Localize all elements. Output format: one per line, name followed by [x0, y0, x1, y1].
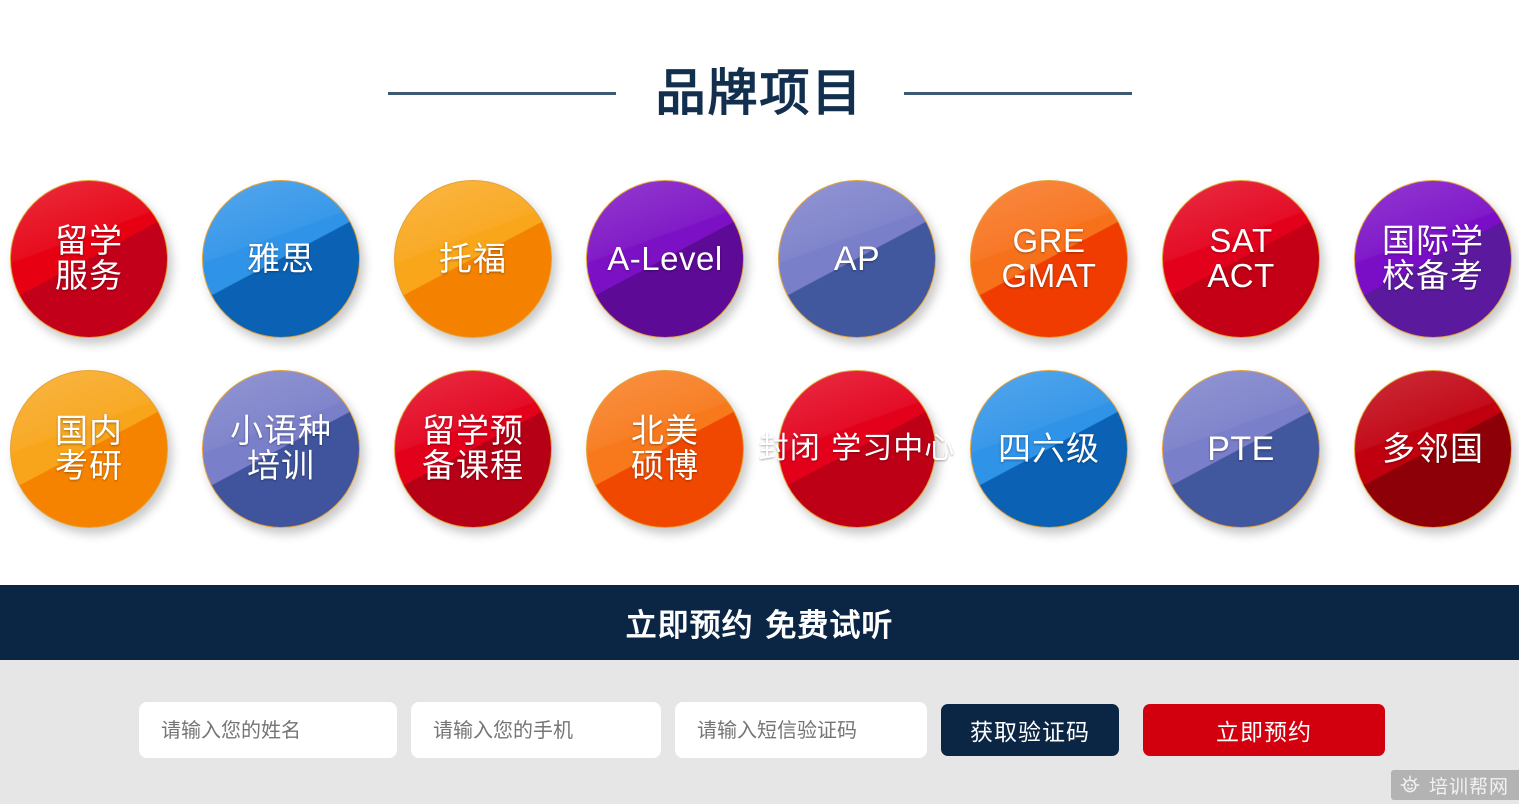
program-bubble[interactable]: SAT ACT [1162, 180, 1320, 338]
site-watermark: 培训帮网 [1391, 770, 1519, 800]
get-sms-code-button[interactable]: 获取验证码 [941, 704, 1119, 756]
name-input[interactable] [139, 702, 397, 758]
program-bubble[interactable]: 托福 [394, 180, 552, 338]
cta-banner-text: 立即预约 免费试听 [626, 600, 894, 645]
page-title: 品牌项目 [656, 68, 864, 118]
program-bubble-label: 留学 服务 [53, 224, 125, 294]
phone-input[interactable] [411, 702, 661, 758]
program-bubble[interactable]: 北美 硕博 [586, 370, 744, 528]
watermark-label: 培训帮网 [1429, 772, 1509, 799]
program-bubble-label: 留学预 备课程 [420, 414, 526, 484]
program-bubble[interactable]: GRE GMAT [970, 180, 1128, 338]
program-row-1: 留学 服务雅思托福A-LevelAPGRE GMATSAT ACT国际学 校备考 [0, 176, 1519, 346]
program-bubble-label: 多邻国 [1380, 432, 1486, 467]
program-row-2: 国内 考研小语种 培训留学预 备课程北美 硕博封闭 学习中心四六级PTE多邻国 [0, 366, 1519, 536]
program-bubble-label: 小语种 培训 [228, 414, 334, 484]
program-bubble[interactable]: 封闭 学习中心 [778, 370, 936, 528]
cta-banner: 立即预约 免费试听 [0, 585, 1519, 660]
program-bubble[interactable]: 雅思 [202, 180, 360, 338]
sms-code-input[interactable] [675, 702, 927, 758]
program-bubble[interactable]: 多邻国 [1354, 370, 1512, 528]
program-bubble-label: GRE GMAT [1000, 224, 1099, 294]
booking-form-strip: 获取验证码 立即预约 [0, 660, 1519, 804]
section-header: 品牌项目 [0, 58, 1519, 128]
program-bubble-label: 托福 [437, 242, 509, 277]
program-bubble-label: PTE [1205, 431, 1277, 467]
program-bubble-label: 国际学 校备考 [1380, 224, 1486, 294]
submit-booking-button[interactable]: 立即预约 [1143, 704, 1385, 756]
program-bubble[interactable]: 小语种 培训 [202, 370, 360, 528]
program-bubble-label: 雅思 [245, 242, 317, 277]
header-rule-right [904, 92, 1132, 95]
program-bubble-label: 国内 考研 [53, 414, 125, 484]
program-bubble-label: 封闭 学习中心 [757, 433, 958, 465]
program-bubble[interactable]: 四六级 [970, 370, 1128, 528]
program-bubble[interactable]: 国际学 校备考 [1354, 180, 1512, 338]
program-bubble-label: SAT ACT [1205, 224, 1277, 294]
program-bubble[interactable]: 留学 服务 [10, 180, 168, 338]
program-bubble[interactable]: PTE [1162, 370, 1320, 528]
sun-face-icon [1399, 774, 1421, 796]
program-bubble-label: A-Level [605, 242, 724, 277]
brand-programs-page: 品牌项目 留学 服务雅思托福A-LevelAPGRE GMATSAT ACT国际… [0, 0, 1519, 804]
program-bubble-label: 北美 硕博 [629, 414, 701, 484]
program-bubble[interactable]: A-Level [586, 180, 744, 338]
program-bubble[interactable]: 留学预 备课程 [394, 370, 552, 528]
header-rule-left [388, 92, 616, 95]
program-grid: 留学 服务雅思托福A-LevelAPGRE GMATSAT ACT国际学 校备考… [0, 176, 1519, 556]
program-bubble[interactable]: AP [778, 180, 936, 338]
program-bubble-label: AP [832, 241, 882, 277]
booking-form: 获取验证码 立即预约 [139, 702, 1385, 758]
program-bubble-label: 四六级 [996, 432, 1102, 467]
program-bubble[interactable]: 国内 考研 [10, 370, 168, 528]
